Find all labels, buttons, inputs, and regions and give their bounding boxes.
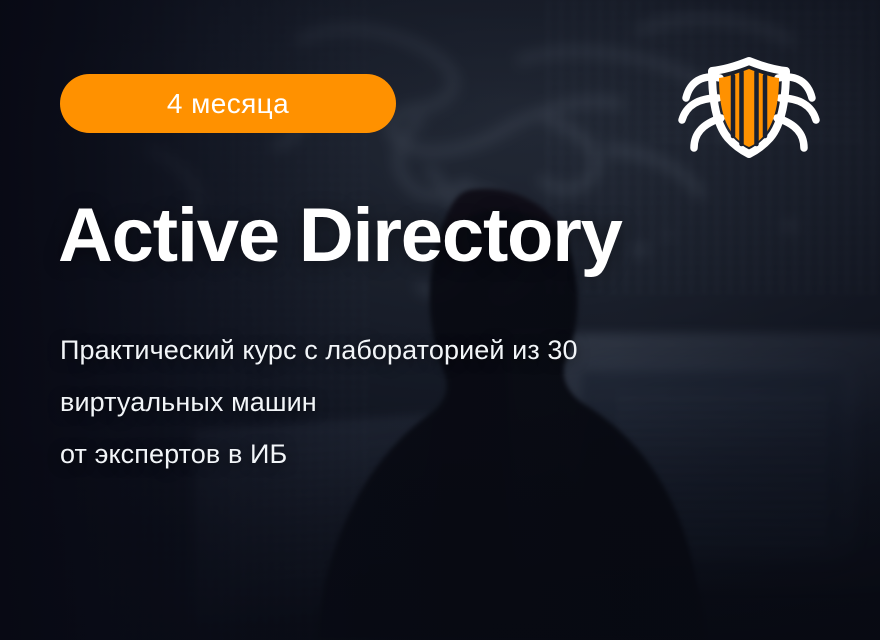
course-description-line-2: виртуальных машин	[60, 376, 578, 428]
page-title: Active Directory	[58, 198, 622, 274]
duration-badge: 4 месяца	[60, 74, 396, 133]
banner-content: 4 месяца Active Directory Практический к…	[0, 0, 880, 640]
shield-spider-logo	[676, 52, 822, 158]
shield-icon	[712, 61, 786, 154]
course-description-line-3: от экспертов в ИБ	[60, 428, 578, 480]
course-description: Практический курс с лабораторией из 30 в…	[60, 324, 578, 480]
duration-badge-label: 4 месяца	[167, 90, 289, 118]
course-promo-banner: 4 месяца Active Directory Практический к…	[0, 0, 880, 640]
course-description-line-1: Практический курс с лабораторией из 30	[60, 324, 578, 376]
